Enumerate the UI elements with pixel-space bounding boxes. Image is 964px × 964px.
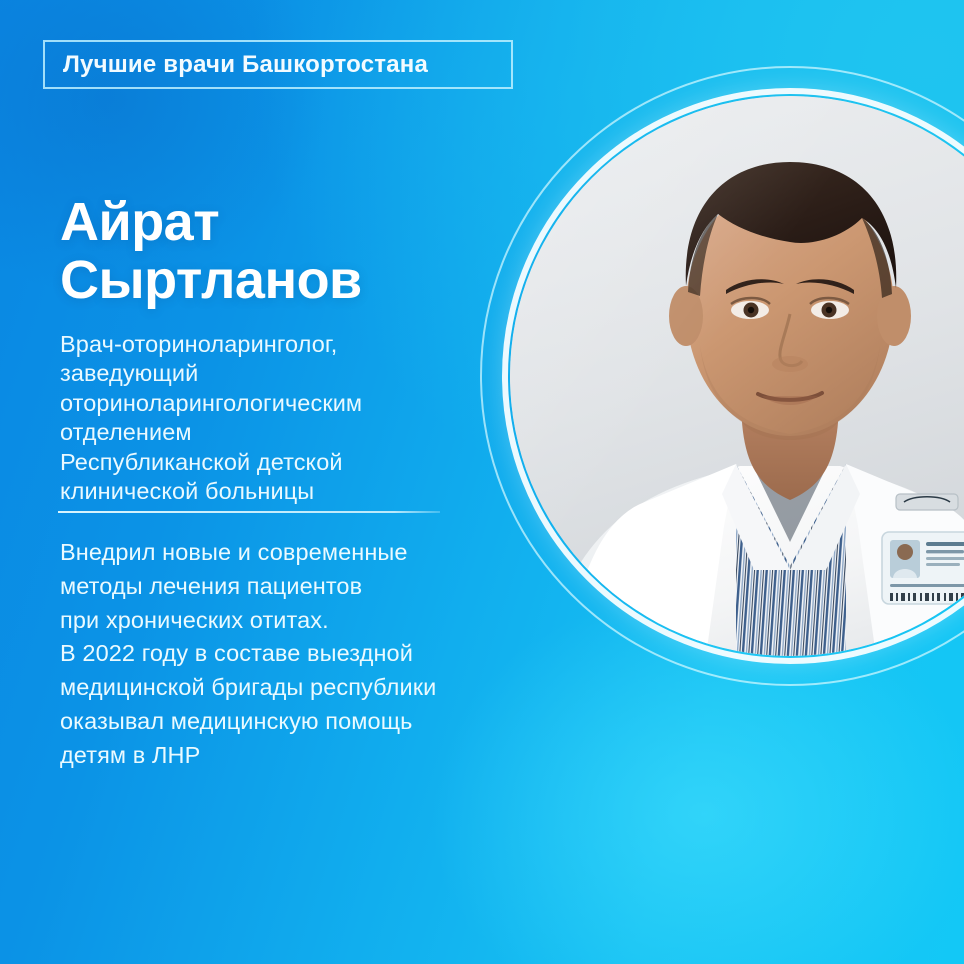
doctor-position: Врач-оториноларинголог, заведующий отори… <box>60 330 510 506</box>
description-line: детям в ЛНР <box>60 739 570 773</box>
doctor-first-name: Айрат <box>60 194 500 252</box>
position-line: отделением <box>60 418 510 447</box>
position-line: Республиканской детской <box>60 448 510 477</box>
header-badge: Лучшие врачи Башкортостана <box>43 40 513 89</box>
doctor-name: Айрат Сыртланов <box>60 194 500 310</box>
section-divider <box>58 511 440 513</box>
coat-pin <box>896 494 958 510</box>
position-line: клинической больницы <box>60 477 510 506</box>
doctor-last-name: Сыртланов <box>60 252 500 310</box>
portrait-container <box>480 66 964 686</box>
description-line: оказывал медицинскую помощь <box>60 705 570 739</box>
coat-id-badge <box>882 532 964 604</box>
position-line: Врач-оториноларинголог, <box>60 330 510 359</box>
header-badge-label: Лучшие врачи Башкортостана <box>63 51 428 79</box>
position-line: оториноларингологическим <box>60 389 510 418</box>
doctor-profile-card: Лучшие врачи Башкортостана Айрат Сыртлан… <box>0 0 964 964</box>
position-line: заведующий <box>60 359 510 388</box>
